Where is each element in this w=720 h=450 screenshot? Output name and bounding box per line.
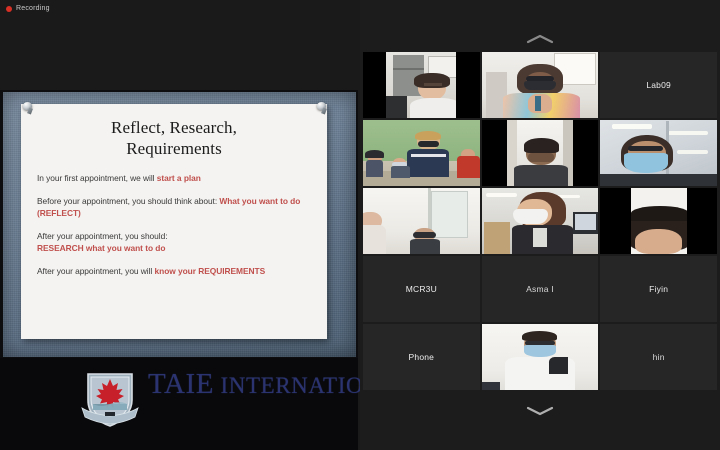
video-feed xyxy=(363,120,480,186)
slide-paragraph: After your appointment, you will know yo… xyxy=(37,266,313,278)
slide-corkboard-background: Reflect, Research, Requirements In your … xyxy=(3,92,356,357)
slide-title: Reflect, Research, Requirements xyxy=(21,118,327,159)
paragraph-plain-text: In your first appointment, we will xyxy=(37,173,157,183)
branding-strip: TAIE INTERNATIONAL INSTITUTE xyxy=(0,358,358,450)
scroll-up-button[interactable] xyxy=(360,26,720,52)
push-pin-right-icon xyxy=(315,101,328,114)
participant-name: Fiyin xyxy=(649,284,668,294)
video-feed xyxy=(482,188,599,254)
slide-body: In your first appointment, we will start… xyxy=(21,173,327,278)
video-feed xyxy=(600,120,717,186)
participant-tile[interactable]: Lab09 xyxy=(600,52,717,118)
slide-paragraph: In your first appointment, we will start… xyxy=(37,173,313,185)
participant-tile[interactable]: hin xyxy=(600,324,717,390)
video-feed xyxy=(363,188,480,254)
video-feed xyxy=(482,120,599,186)
recording-indicator: Recording xyxy=(6,5,50,12)
paragraph-accent-text: RESEARCH what you want to do xyxy=(37,243,165,253)
participant-rail: Lab09 xyxy=(360,0,720,450)
participant-tile[interactable] xyxy=(482,120,599,186)
paragraph-plain-text: After your appointment, you will xyxy=(37,266,155,276)
participant-tile[interactable] xyxy=(363,188,480,254)
participant-tile[interactable] xyxy=(482,324,599,390)
participant-name: hin xyxy=(653,352,665,362)
participant-name: Asma I xyxy=(526,284,554,294)
video-conference-screen: Recording Reflect, Research, Requirement… xyxy=(0,0,720,450)
paragraph-plain-text: Before your appointment, you should thin… xyxy=(37,196,219,206)
recording-dot-icon xyxy=(6,6,12,12)
chevron-down-icon xyxy=(525,405,555,417)
participant-grid: Lab09 xyxy=(363,52,717,390)
push-pin-left-icon xyxy=(21,101,34,114)
participant-tile[interactable] xyxy=(363,52,480,118)
shared-screen-stage: Reflect, Research, Requirements In your … xyxy=(0,90,358,360)
slide-paragraph: After your appointment, you should: RESE… xyxy=(37,231,313,255)
scroll-down-button[interactable] xyxy=(360,398,720,424)
participant-tile[interactable] xyxy=(482,52,599,118)
participant-tile[interactable] xyxy=(482,188,599,254)
video-feed xyxy=(482,324,599,390)
video-feed xyxy=(600,188,717,254)
slide-title-line-2: Requirements xyxy=(21,139,327,160)
recording-label: Recording xyxy=(16,5,50,12)
video-feed xyxy=(482,52,599,118)
participant-name: Lab09 xyxy=(646,80,671,90)
maple-leaf-crest-icon xyxy=(78,366,142,430)
brand-name-main: TAIE xyxy=(148,368,214,400)
chevron-up-icon xyxy=(525,33,555,45)
participant-tile[interactable] xyxy=(600,188,717,254)
paragraph-plain-text: After your appointment, you should: xyxy=(37,231,167,241)
participant-tile[interactable]: MCR3U xyxy=(363,256,480,322)
participant-name: MCR3U xyxy=(406,284,437,294)
participant-tile[interactable] xyxy=(363,120,480,186)
participant-tile[interactable] xyxy=(600,120,717,186)
participant-tile[interactable]: Asma I xyxy=(482,256,599,322)
video-feed xyxy=(363,52,480,118)
paragraph-accent-text: know your REQUIREMENTS xyxy=(155,266,266,276)
participant-tile[interactable]: Phone xyxy=(363,324,480,390)
paragraph-accent-text: start a plan xyxy=(157,173,201,183)
participant-tile[interactable]: Fiyin xyxy=(600,256,717,322)
participant-name: Phone xyxy=(409,352,435,362)
slide-paragraph: Before your appointment, you should thin… xyxy=(37,196,313,220)
slide-title-line-1: Reflect, Research, xyxy=(21,118,327,139)
slide-paper: Reflect, Research, Requirements In your … xyxy=(21,104,327,339)
